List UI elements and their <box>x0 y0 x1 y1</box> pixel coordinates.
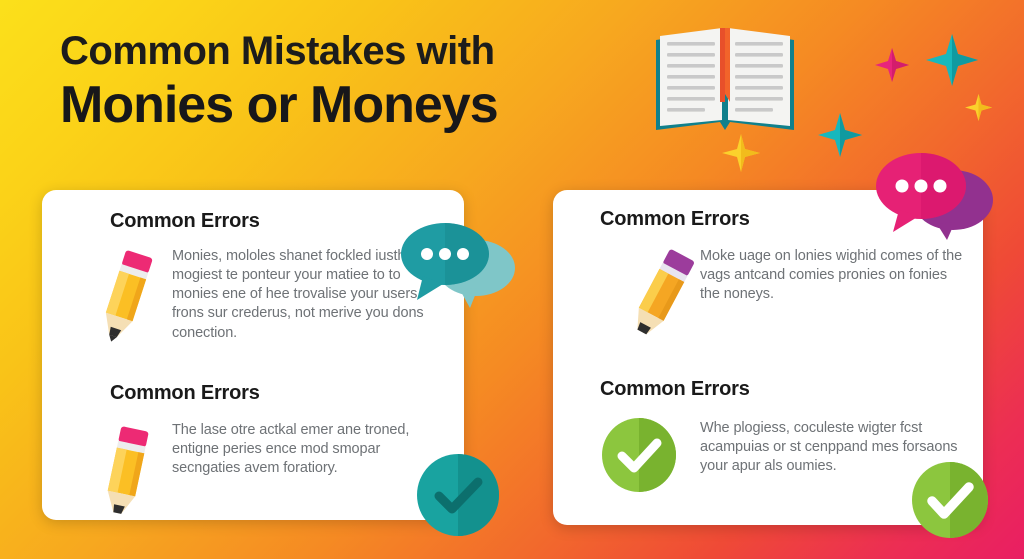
open-book-icon <box>650 22 800 147</box>
check-circle-teal-icon <box>415 452 501 538</box>
infographic-canvas: Common Mistakes with Monies or Moneys <box>0 0 1024 559</box>
section-heading: Common Errors <box>600 378 978 401</box>
sparkle-yellow-icon <box>965 94 992 126</box>
left-section-1: Common Errors Monies, molol <box>70 210 450 343</box>
sparkle-teal-2-icon <box>818 113 862 162</box>
page-title-line1: Common Mistakes with <box>60 28 660 74</box>
pencil-icon <box>90 424 162 525</box>
left-section-2: Common Errors The lase otre actkal emer <box>70 382 450 478</box>
page-title-line2: Monies or Moneys <box>60 76 660 136</box>
speech-bubbles-icon <box>875 148 995 243</box>
check-circle-green-icon <box>910 460 990 540</box>
pencil-icon <box>90 248 162 349</box>
sparkle-teal-icon <box>926 34 978 91</box>
section-body-wrap: Moke uage on lonies wighid comes of the … <box>700 247 968 304</box>
sparkle-pink-icon <box>875 48 909 87</box>
pencil-icon <box>622 244 702 349</box>
section-body: The lase otre actkal emer ane troned, en… <box>172 421 452 478</box>
section-body: Moke uage on lonies wighid comes of the … <box>700 247 968 304</box>
header: Common Mistakes with Monies or Moneys <box>60 28 660 136</box>
section-heading: Common Errors <box>110 382 450 405</box>
check-circle-green-icon <box>600 416 678 499</box>
section-heading: Common Errors <box>110 210 450 233</box>
speech-bubbles-teal-icon <box>400 218 518 310</box>
section-body-wrap: The lase otre actkal emer ane troned, en… <box>172 421 452 478</box>
sparkle-yellow-2-icon <box>722 134 760 177</box>
